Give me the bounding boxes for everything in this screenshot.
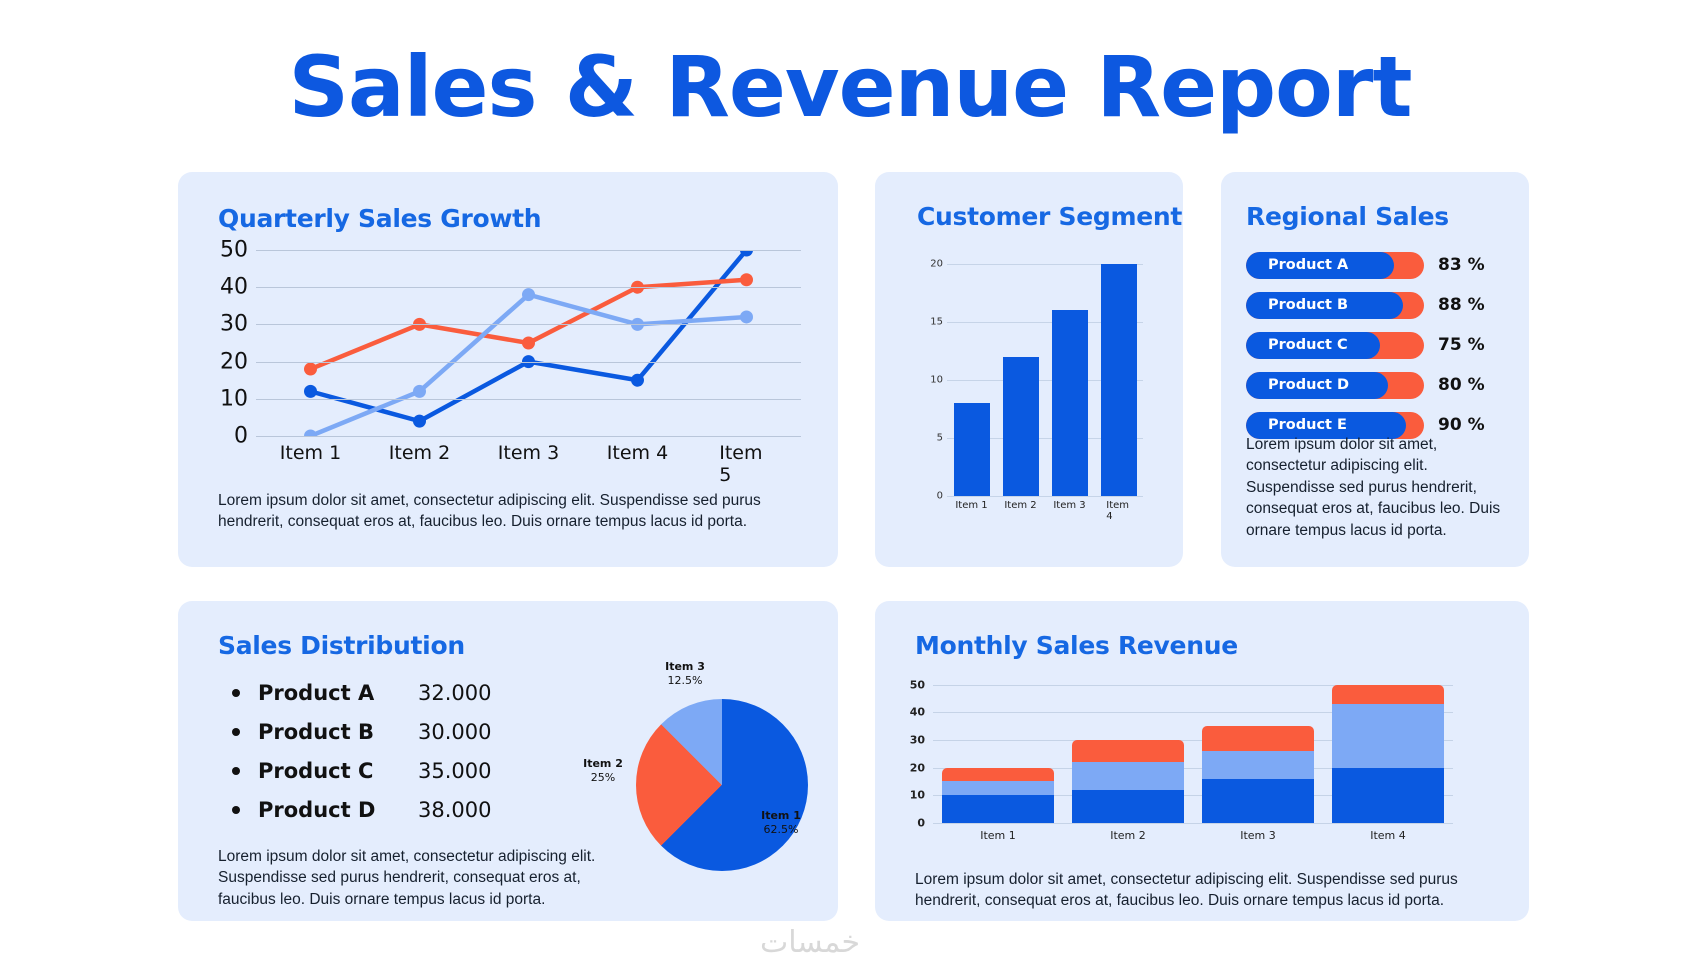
segment-y-tick: 0: [937, 491, 943, 502]
card-customer-segment: Customer Segment 05101520 Item 1Item 2It…: [875, 172, 1183, 567]
x-tick: Item 2: [389, 442, 450, 464]
segment-bar: [954, 403, 990, 496]
pie-slice-label: Item 3: [650, 660, 720, 674]
distribution-label: Product A: [258, 681, 418, 705]
page-title: Sales & Revenue Report: [0, 38, 1700, 136]
gridline: [256, 287, 801, 288]
pie-slice-label: Item 1: [746, 809, 816, 823]
regional-title: Regional Sales: [1246, 202, 1449, 231]
monthly-stacked-bar: [1072, 740, 1184, 823]
pie-label-item1: Item 162.5%: [746, 809, 816, 837]
progress-label: Product B: [1268, 292, 1348, 319]
segment-bar-chart: 05101520 Item 1Item 2Item 3Item 4: [917, 264, 1149, 524]
monthly-bar-segment: [1332, 768, 1444, 823]
monthly-x-tick: Item 1: [980, 829, 1016, 842]
card-sales-distribution: Sales Distribution Product A32.000Produc…: [178, 601, 838, 921]
distribution-row: Product B30.000: [232, 712, 562, 751]
monthly-x-tick: Item 4: [1370, 829, 1406, 842]
monthly-plot-area: [933, 679, 1453, 823]
monthly-stacked-bar: [942, 768, 1054, 823]
segment-bar: [1101, 264, 1137, 496]
progress-track: Product D: [1246, 372, 1424, 399]
line-series-svg: [256, 250, 801, 436]
progress-percent: 90 %: [1438, 415, 1485, 435]
segment-gridline: [947, 496, 1143, 497]
y-tick: 40: [220, 275, 248, 300]
pie-label-item3: Item 312.5%: [650, 660, 720, 688]
pie-slices: [636, 699, 808, 871]
progress-label: Product D: [1268, 372, 1349, 399]
report-page: Sales & Revenue Report Quarterly Sales G…: [0, 0, 1700, 970]
progress-percent: 83 %: [1438, 255, 1485, 275]
monthly-bar-segment: [942, 795, 1054, 823]
distribution-caption: Lorem ipsum dolor sit amet, consectetur …: [218, 846, 638, 910]
distribution-value: 35.000: [418, 759, 491, 783]
monthly-bar-segment: [1332, 704, 1444, 768]
monthly-x-tick: Item 3: [1240, 829, 1276, 842]
monthly-y-tick: 20: [910, 761, 925, 774]
segment-bar: [1052, 310, 1088, 496]
monthly-gridline: [933, 823, 1453, 824]
watermark: خمسات: [760, 925, 860, 960]
segment-x-tick: Item 2: [1004, 500, 1036, 511]
segment-plot-area: [947, 264, 1143, 496]
monthly-y-tick: 0: [917, 817, 925, 830]
progress-track: Product B: [1246, 292, 1424, 319]
monthly-caption: Lorem ipsum dolor sit amet, consectetur …: [915, 869, 1495, 912]
monthly-bar-segment: [1072, 740, 1184, 762]
card-quarterly-sales-growth: Quarterly Sales Growth 01020304050 Item …: [178, 172, 838, 567]
pie-label-item2: Item 225%: [568, 757, 638, 785]
progress-percent: 75 %: [1438, 335, 1485, 355]
regional-progress-row[interactable]: Product D80 %: [1246, 370, 1508, 400]
monthly-y-tick: 10: [910, 789, 925, 802]
pie-slice-value: 12.5%: [650, 674, 720, 688]
progress-label: Product E: [1268, 412, 1347, 439]
quarterly-title: Quarterly Sales Growth: [218, 204, 541, 233]
monthly-y-tick: 40: [910, 706, 925, 719]
regional-progress-row[interactable]: Product A83 %: [1246, 250, 1508, 280]
distribution-label: Product D: [258, 798, 418, 822]
regional-progress-row[interactable]: Product C75 %: [1246, 330, 1508, 360]
segment-bar: [1003, 357, 1039, 496]
monthly-stacked-chart: 01020304050 Item 1Item 2Item 3Item 4: [893, 679, 1493, 859]
distribution-value: 38.000: [418, 798, 491, 822]
x-tick: Item 4: [607, 442, 668, 464]
segment-y-axis-labels: 05101520: [917, 264, 943, 496]
y-tick: 10: [220, 386, 248, 411]
regional-progress-list: Product A83 %Product B88 %Product C75 %P…: [1246, 250, 1508, 450]
y-tick: 20: [220, 349, 248, 374]
distribution-row: Product C35.000: [232, 751, 562, 790]
monthly-bar-segment: [1202, 751, 1314, 779]
x-tick: Item 3: [498, 442, 559, 464]
monthly-bar-segment: [942, 781, 1054, 795]
bullet-icon: [232, 806, 240, 814]
y-axis-labels: 01020304050: [202, 250, 248, 436]
progress-label: Product C: [1268, 332, 1348, 359]
segment-y-tick: 10: [930, 375, 943, 386]
monthly-bar-segment: [1202, 779, 1314, 823]
line-plot-area: [256, 250, 801, 436]
pie-slice-value: 62.5%: [746, 823, 816, 837]
gridline: [256, 436, 801, 437]
gridline: [256, 399, 801, 400]
segment-title: Customer Segment: [917, 202, 1182, 231]
gridline: [256, 362, 801, 363]
pie-slice-label: Item 2: [568, 757, 638, 771]
progress-track: Product C: [1246, 332, 1424, 359]
distribution-label: Product B: [258, 720, 418, 744]
segment-x-tick: Item 3: [1053, 500, 1085, 511]
y-tick: 0: [234, 424, 248, 449]
x-tick: Item 5: [719, 442, 774, 486]
distribution-list: Product A32.000Product B30.000Product C3…: [232, 673, 562, 829]
progress-label: Product A: [1268, 252, 1348, 279]
monthly-bar-segment: [1332, 685, 1444, 704]
monthly-y-tick: 30: [910, 733, 925, 746]
gridline: [256, 250, 801, 251]
bullet-icon: [232, 689, 240, 697]
monthly-y-axis-labels: 01020304050: [893, 679, 925, 823]
y-tick: 30: [220, 312, 248, 337]
progress-track: Product A: [1246, 252, 1424, 279]
monthly-bar-segment: [1072, 762, 1184, 790]
monthly-x-tick: Item 2: [1110, 829, 1146, 842]
line-chart: 01020304050 Item 1Item 2Item 3Item 4Item…: [202, 250, 812, 470]
distribution-value: 32.000: [418, 681, 491, 705]
segment-y-tick: 20: [930, 259, 943, 270]
monthly-y-tick: 50: [910, 678, 925, 691]
regional-caption: Lorem ipsum dolor sit amet, consectetur …: [1246, 434, 1504, 541]
x-axis-labels: Item 1Item 2Item 3Item 4Item 5: [256, 442, 801, 472]
monthly-stacked-bar: [1332, 685, 1444, 823]
x-tick: Item 1: [280, 442, 341, 464]
distribution-label: Product C: [258, 759, 418, 783]
card-regional-sales: Regional Sales Product A83 %Product B88 …: [1221, 172, 1529, 567]
monthly-title: Monthly Sales Revenue: [915, 631, 1238, 660]
progress-percent: 88 %: [1438, 295, 1485, 315]
monthly-bar-segment: [942, 768, 1054, 782]
card-monthly-sales-revenue: Monthly Sales Revenue 01020304050 Item 1…: [875, 601, 1529, 921]
y-tick: 50: [220, 238, 248, 263]
segment-y-tick: 5: [937, 433, 943, 444]
distribution-row: Product A32.000: [232, 673, 562, 712]
monthly-bar-segment: [1202, 726, 1314, 751]
quarterly-caption: Lorem ipsum dolor sit amet, consectetur …: [218, 490, 798, 533]
progress-percent: 80 %: [1438, 375, 1485, 395]
bullet-icon: [232, 767, 240, 775]
monthly-bar-segment: [1072, 790, 1184, 823]
monthly-stacked-bar: [1202, 726, 1314, 823]
bullet-icon: [232, 728, 240, 736]
segment-x-tick: Item 4: [1106, 500, 1131, 522]
distribution-row: Product D38.000: [232, 790, 562, 829]
distribution-value: 30.000: [418, 720, 491, 744]
segment-y-tick: 15: [930, 317, 943, 328]
distribution-title: Sales Distribution: [218, 631, 465, 660]
regional-progress-row[interactable]: Product B88 %: [1246, 290, 1508, 320]
segment-x-tick: Item 1: [955, 500, 987, 511]
gridline: [256, 324, 801, 325]
pie-slice-value: 25%: [568, 771, 638, 785]
